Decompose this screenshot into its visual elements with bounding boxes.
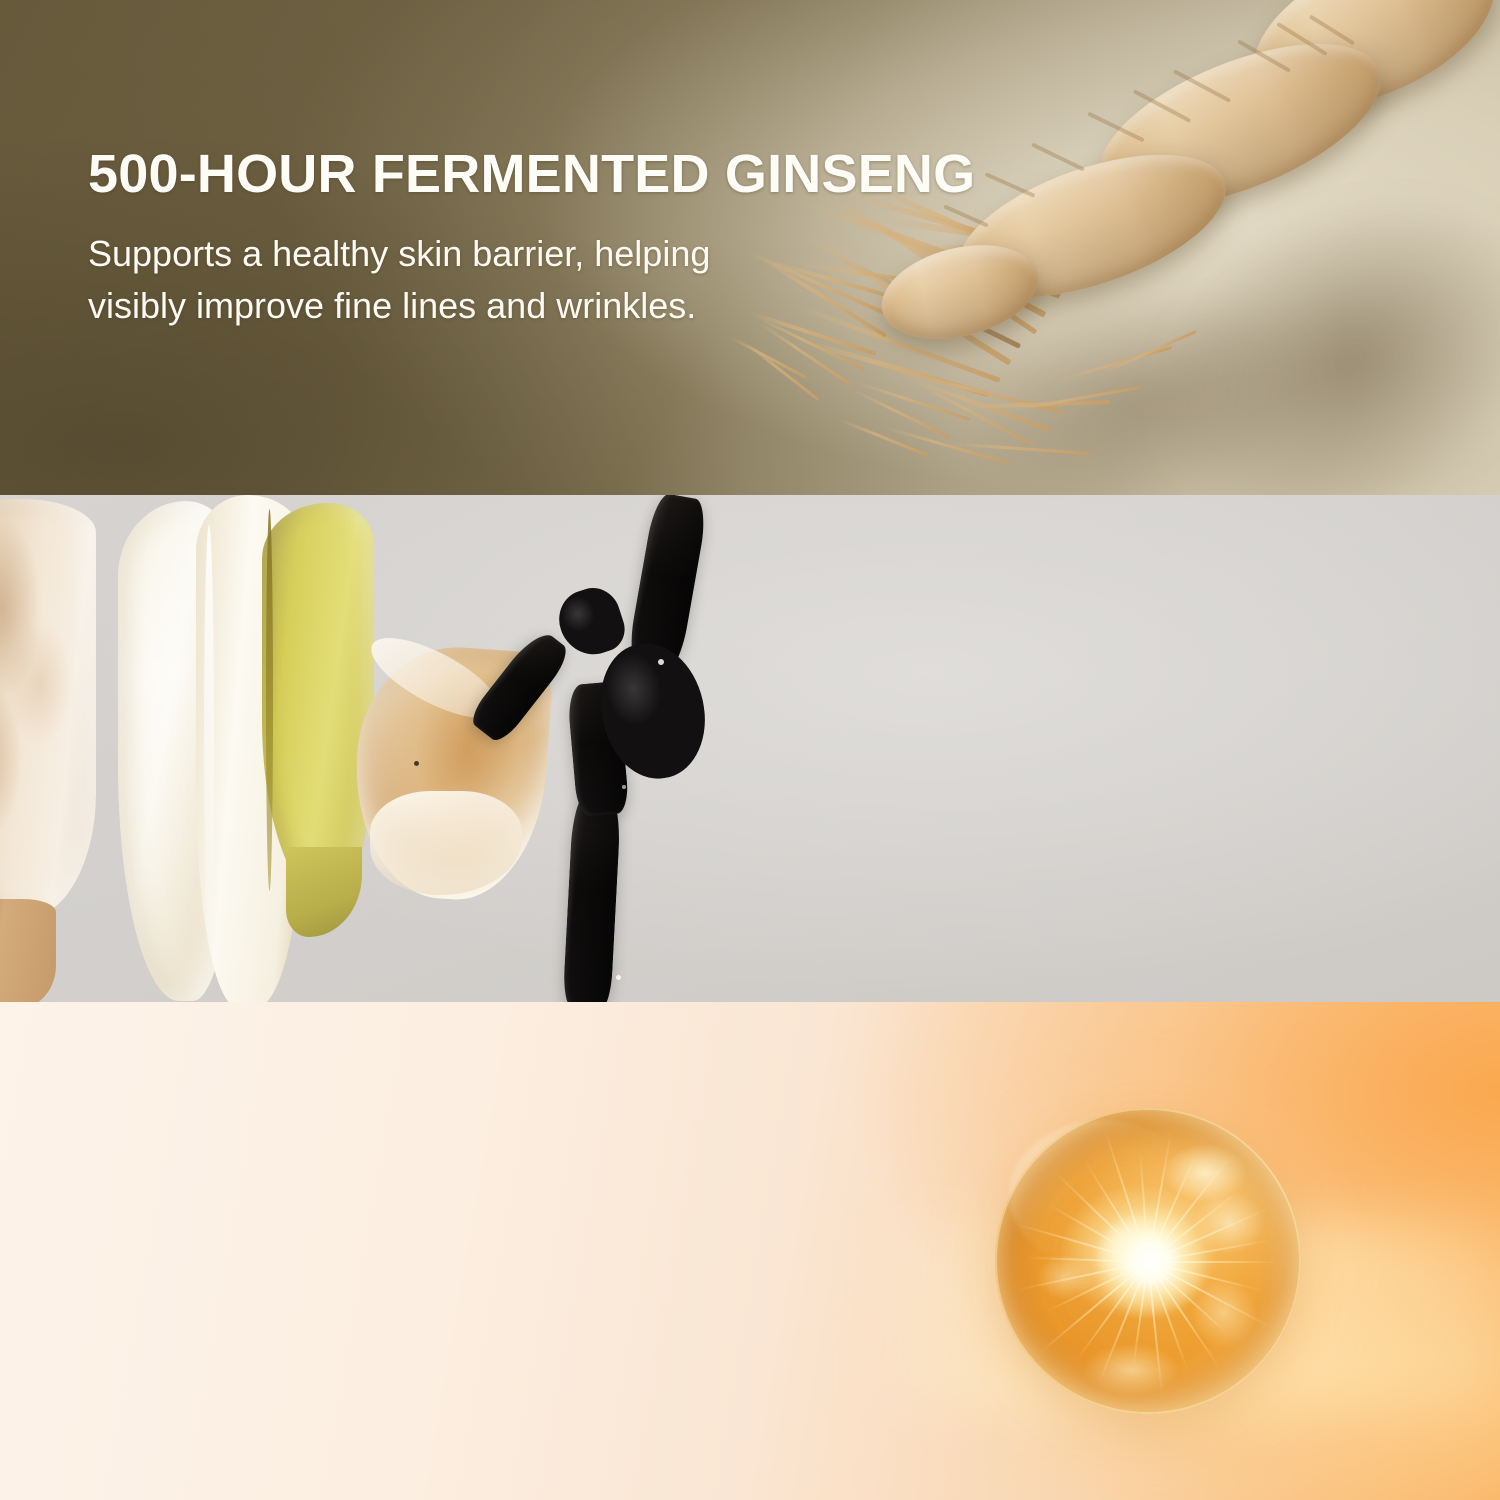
- serum-sphere: [995, 1108, 1301, 1414]
- panel-vitamin-c: VITAMIN C DERIVITIVE Delivers long lasti…: [0, 1002, 1500, 1500]
- yellow-leaf-edge: [266, 509, 273, 891]
- cream-petal-fold-highlight: [204, 525, 214, 955]
- panel-korean-herb: KOREAN HERB EXTRACT Improves hydration, …: [0, 495, 1500, 1002]
- yellow-leaf: [262, 503, 374, 903]
- ginseng-title: 500-HOUR FERMENTED GINSENG: [88, 146, 975, 202]
- ginseng-description: Supports a healthy skin barrier, helping…: [88, 228, 975, 332]
- dried-root-slice-stem: [0, 899, 56, 1002]
- dried-root-slice: [0, 499, 96, 919]
- ingredient-panels-stage: 500-HOUR FERMENTED GINSENG Supports a he…: [0, 0, 1500, 1500]
- ginseng-text-block: 500-HOUR FERMENTED GINSENG Supports a he…: [88, 146, 975, 333]
- panel-ginseng: 500-HOUR FERMENTED GINSENG Supports a he…: [0, 0, 1500, 495]
